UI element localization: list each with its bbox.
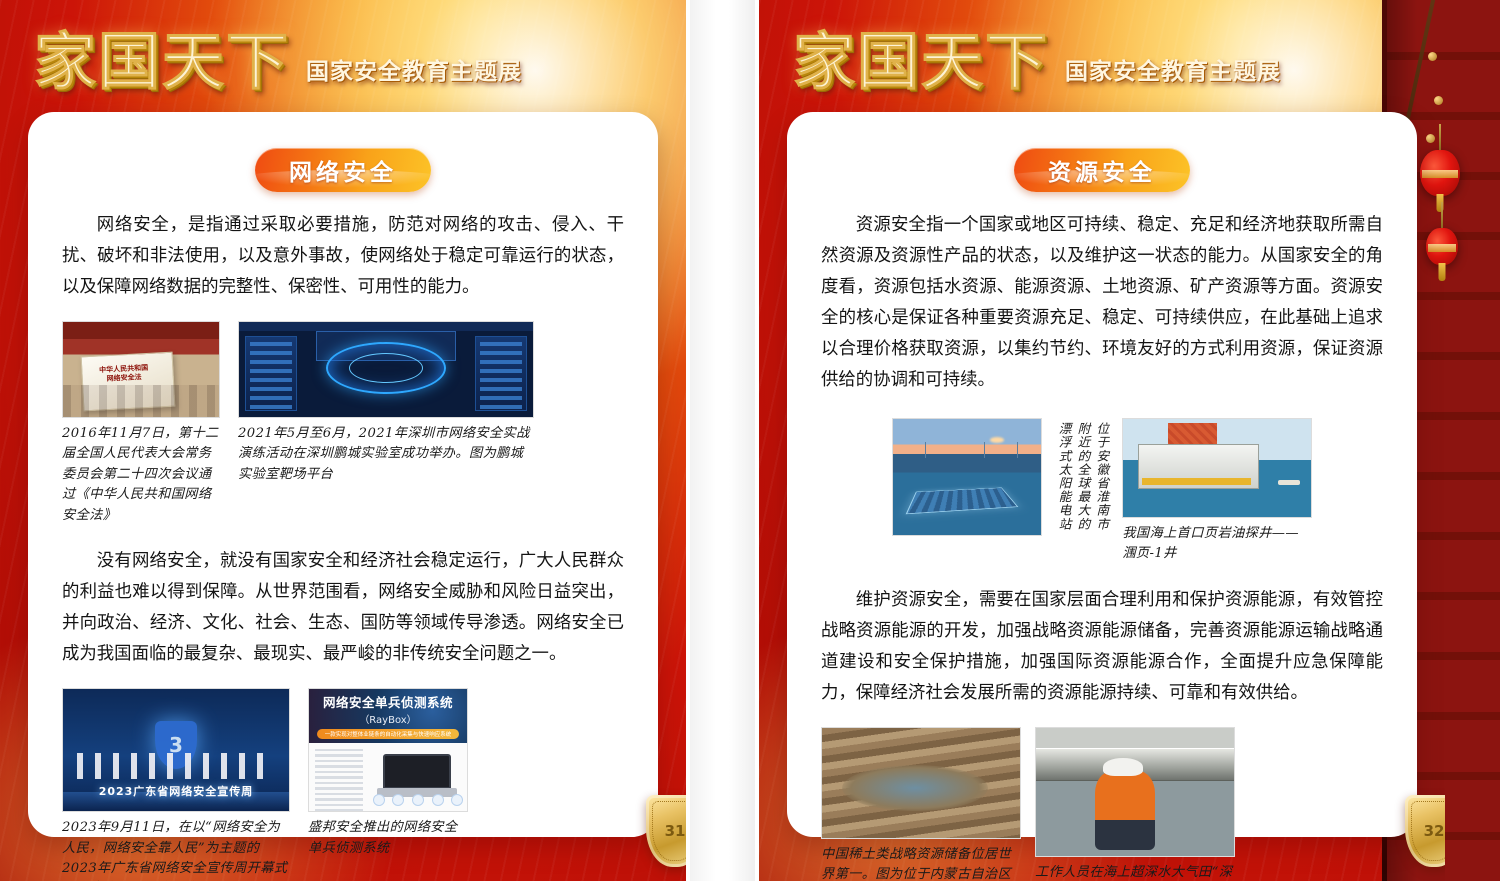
- figure-row-bottom-page-31: 3 2023广东省网络安全宣传周 2023年9月11日，在以“网络安全为人民，网…: [62, 688, 624, 881]
- exhibition-poster-page: { "header": { "big_title": "家国天下", "sub_…: [0, 0, 1500, 881]
- wind-turbine-2: [984, 442, 985, 458]
- sunset-glow: [990, 437, 1004, 443]
- wind-turbine-3: [1017, 442, 1018, 458]
- section-badge-wrap-right: 资源安全: [821, 148, 1383, 192]
- dashboard-radar-ring-inner: [349, 353, 423, 383]
- safety-helmet: [1103, 758, 1143, 776]
- raybox-feature-icons: [373, 793, 463, 807]
- lantern-tassel-2: [1439, 263, 1446, 281]
- figure-shenzhen-drill: 2021年5月至6月，2021年深圳市网络安全实战演练活动在深圳鹏城实验室成功举…: [238, 321, 534, 526]
- rig-yellow-rail: [1142, 478, 1251, 485]
- red-lantern-1: [1420, 150, 1460, 196]
- figure-rare-earth-mine: 中国稀土类战略资源储备位居世界第一。图为位于内蒙古自治区包头市的白云鄂博稀土矿产…: [821, 727, 1021, 881]
- content-card-page-31: 网络安全 网络安全，是指通过采取必要措施，防范对网络的攻击、侵入、干扰、破坏和非…: [28, 112, 658, 837]
- raybox-text-column: [309, 743, 369, 811]
- caption-shenhai-worker: 工作人员在海上超深水大气田“深海一号”上检查设备: [1035, 863, 1235, 881]
- masthead-left: 家国天下 国家安全教育主题展: [0, 0, 686, 112]
- worker-figure: [1095, 771, 1154, 850]
- poster-panel-page-32: 家国天下 国家安全教育主题展 资源安全 资源安全指一个国家或地区可持续、稳定、充…: [755, 0, 1445, 881]
- page-number-shield-31: 31: [646, 795, 690, 867]
- caption-floating-solar: 位于安徽省淮南市附近的全球最大的漂浮式太阳能电站: [1054, 422, 1111, 540]
- cybersecurity-law-book-label: 中华人民共和国网络安全法: [88, 362, 161, 385]
- dashboard-topbar: [239, 322, 533, 331]
- caption-npc-law: 2016年11月7日，第十二届全国人民代表大会常务委员会第二十四次会议通过《中华…: [62, 424, 220, 526]
- guangdong-cyber-week-stage-photo: 3 2023广东省网络安全宣传周: [62, 688, 290, 812]
- raybox-subtitle: （RayBox）: [359, 711, 416, 726]
- decor-bead-3: [1426, 134, 1435, 143]
- huainan-floating-solar-plant-photo: [892, 418, 1042, 536]
- lantern-band-2: [1428, 244, 1456, 252]
- figure-raybox: 网络安全单兵侦测系统 （RayBox） 一款实现对整体业链条的自动化采集与快速响…: [308, 688, 468, 881]
- paragraph-2-page-31: 没有网络安全，就没有国家安全和经济社会稳定运行，广大人民群众的利益也难以得到保障…: [62, 546, 624, 670]
- exhibition-subtitle: 国家安全教育主题展: [306, 52, 522, 86]
- paragraph-1-page-31: 网络安全，是指通过采取必要措施，防范对网络的攻击、侵入、干扰、破坏和非法使用，以…: [62, 210, 624, 303]
- raybox-title: 网络安全单兵侦测系统: [323, 692, 453, 711]
- exhibition-title-2: 家国天下: [793, 11, 1049, 101]
- figure-floating-solar: [892, 418, 1042, 536]
- raybox-product-page-photo: 网络安全单兵侦测系统 （RayBox） 一款实现对整体业链条的自动化采集与快速响…: [308, 688, 468, 812]
- figure-shenhai-worker: 工作人员在海上超深水大气田“深海一号”上检查设备: [1035, 727, 1235, 881]
- npc-session-cybersecurity-law-photo: 中华人民共和国网络安全法: [62, 321, 220, 418]
- exhibition-title: 家国天下: [34, 11, 290, 101]
- caption-offshore-rig: 我国海上首口页岩油探井——涠页-1井: [1122, 524, 1312, 565]
- poster-panel-page-31: 家国天下 国家安全教育主题展 网络安全 网络安全，是指通过采取必要措施，防范对网…: [0, 0, 690, 881]
- dashboard-right-column: [475, 336, 527, 411]
- figure-offshore-rig: 我国海上首口页岩油探井——涠页-1井: [1122, 418, 1312, 565]
- raybox-tagline: 一款实现对整体业链条的自动化采集与快速响应系统: [317, 729, 460, 739]
- red-lantern-2: [1426, 228, 1458, 265]
- paragraph-1-page-32: 资源安全指一个国家或地区可持续、稳定、充足和经济地获取所需自然资源及资源性产品的…: [821, 210, 1383, 396]
- content-card-page-32: 资源安全 资源安全指一个国家或地区可持续、稳定、充足和经济地获取所需自然资源及资…: [787, 112, 1417, 837]
- stage-banner-text: 2023广东省网络安全宣传周: [81, 781, 271, 801]
- shenzhen-cyber-drill-dashboard-photo: [238, 321, 534, 418]
- lantern-band-1: [1422, 170, 1457, 178]
- stage-people-row: [77, 753, 276, 779]
- page-number-32: 32: [1424, 822, 1445, 840]
- section-badge-cyber-security: 网络安全: [255, 148, 431, 192]
- figure-npc-law: 中华人民共和国网络安全法 2016年11月7日，第十二届全国人民代表大会常务委员…: [62, 321, 220, 526]
- exhibition-subtitle-2: 国家安全教育主题展: [1065, 52, 1281, 86]
- caption-rare-earth-mine: 中国稀土类战略资源储备位居世界第一。图为位于内蒙古自治区包头市的白云鄂博稀土矿产…: [821, 845, 1021, 881]
- shenhai-1-gas-field-worker-photo: [1035, 727, 1235, 857]
- raybox-device-column: [369, 743, 467, 811]
- panel-gutter: [690, 0, 755, 881]
- section-badge-label: 网络安全: [289, 153, 397, 187]
- page-number-31: 31: [665, 822, 686, 840]
- wind-turbine-1: [925, 442, 926, 458]
- baiyunebo-rare-earth-mine-photo: [821, 727, 1021, 839]
- section-badge-wrap-left: 网络安全: [62, 148, 624, 192]
- section-badge-label-2: 资源安全: [1048, 153, 1156, 187]
- raybox-hero: 网络安全单兵侦测系统 （RayBox） 一款实现对整体业链条的自动化采集与快速响…: [309, 689, 467, 743]
- offshore-shale-oil-rig-photo: [1122, 418, 1312, 518]
- caption-shenzhen-drill: 2021年5月至6月，2021年深圳市网络安全实战演练活动在深圳鹏城实验室成功举…: [238, 424, 534, 485]
- dashboard-left-column: [245, 336, 297, 411]
- masthead-right: 家国天下 国家安全教育主题展: [759, 0, 1445, 112]
- section-badge-resource-security: 资源安全: [1014, 148, 1190, 192]
- raybox-body: [309, 743, 467, 811]
- figure-row-top-page-32: 位于安徽省淮南市附近的全球最大的漂浮式太阳能电站 我国海上首口页岩油探井——涠页…: [821, 418, 1383, 565]
- raybox-laptop-image: [383, 754, 452, 790]
- supply-boat: [1278, 480, 1300, 485]
- paragraph-2-page-32: 维护资源安全，需要在国家层面合理利用和保护资源能源，有效管控战略资源能源的开发，…: [821, 585, 1383, 709]
- floating-solar-array: [906, 488, 1019, 515]
- figure-row-top-page-31: 中华人民共和国网络安全法 2016年11月7日，第十二届全国人民代表大会常务委员…: [62, 321, 624, 526]
- caption-guangdong-week: 2023年9月11日，在以“网络安全为人民，网络安全靠人民”为主题的2023年广…: [62, 818, 290, 881]
- caption-raybox: 盛邦安全推出的网络安全单兵侦测系统: [308, 818, 468, 859]
- figure-row-bottom-page-32: 中国稀土类战略资源储备位居世界第一。图为位于内蒙古自治区包头市的白云鄂博稀土矿产…: [821, 727, 1383, 881]
- figure-guangdong-week: 3 2023广东省网络安全宣传周 2023年9月11日，在以“网络安全为人民，网…: [62, 688, 290, 881]
